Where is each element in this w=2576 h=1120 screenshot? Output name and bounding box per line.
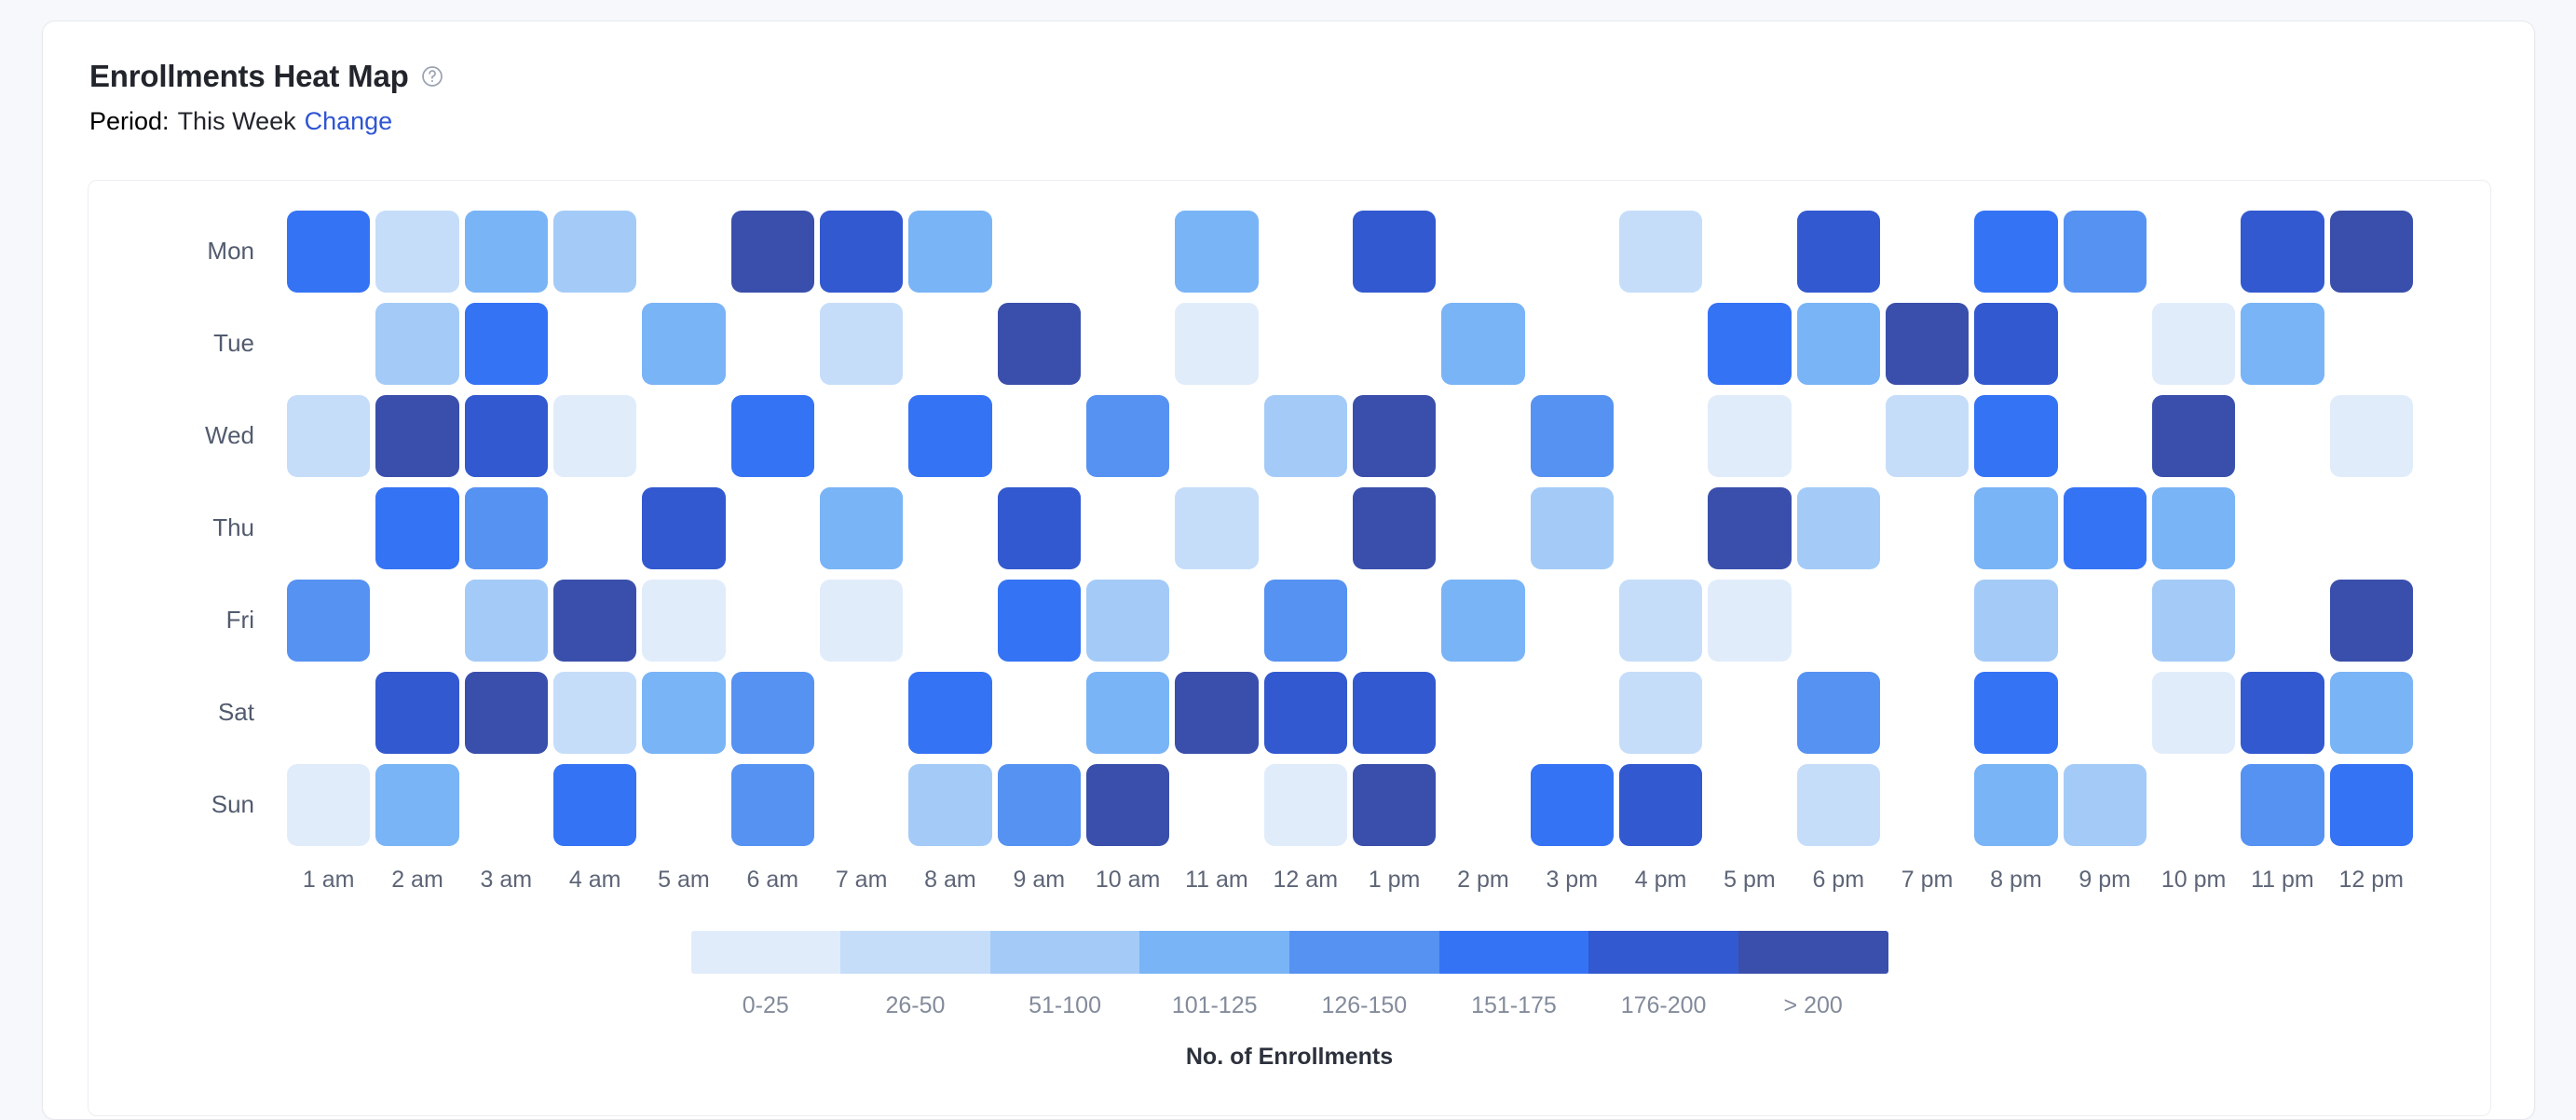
heatmap-cell[interactable]: [1708, 211, 1791, 293]
enrollments-heat-map-card: Enrollments Heat Map Period: This Week C…: [42, 20, 2535, 1120]
x-axis-tick-label: 6 pm: [1794, 867, 1883, 894]
heatmap-cell[interactable]: [1264, 395, 1347, 477]
heatmap-cell[interactable]: [1264, 580, 1347, 662]
heatmap-cell[interactable]: [1619, 211, 1702, 293]
heatmap-cell[interactable]: [2330, 580, 2413, 662]
heatmap-row-label: Sat: [89, 698, 284, 727]
heatmap-cell[interactable]: [1708, 672, 1791, 754]
legend-swatch: [1139, 931, 1289, 974]
heatmap-cell[interactable]: [1531, 211, 1614, 293]
heatmap-cell[interactable]: [2064, 487, 2147, 569]
heatmap-cell[interactable]: [908, 211, 991, 293]
heatmap-cell[interactable]: [1974, 211, 2057, 293]
heatmap-cell[interactable]: [553, 211, 636, 293]
heatmap-cell[interactable]: [553, 764, 636, 846]
heatmap-cell[interactable]: [1353, 211, 1436, 293]
heatmap-cell[interactable]: [1353, 672, 1436, 754]
period-label: Period:: [89, 106, 170, 136]
heatmap-cell[interactable]: [553, 487, 636, 569]
legend-label: 51-100: [990, 992, 1140, 1019]
heatmap-cell[interactable]: [2241, 580, 2324, 662]
legend-title: No. of Enrollments: [1186, 1044, 1393, 1071]
heatmap-cell[interactable]: [1708, 395, 1791, 477]
legend-label: 151-175: [1439, 992, 1589, 1019]
heatmap-cell[interactable]: [731, 303, 814, 385]
heatmap-cell[interactable]: [998, 303, 1081, 385]
heatmap-cell[interactable]: [1619, 303, 1702, 385]
heatmap-cell[interactable]: [1531, 487, 1614, 569]
x-axis-tick-label: 4 am: [551, 867, 639, 894]
heatmap-cell[interactable]: [2241, 672, 2324, 754]
legend-color-bar: [691, 931, 1888, 974]
heatmap-cell[interactable]: [820, 303, 903, 385]
heatmap-panel: MonTueWedThuFriSatSun1 am2 am3 am4 am5 a…: [88, 180, 2491, 1116]
heatmap-cell[interactable]: [1264, 303, 1347, 385]
heatmap-cell[interactable]: [2064, 764, 2147, 846]
heatmap-cell[interactable]: [1708, 764, 1791, 846]
heatmap-cell[interactable]: [820, 211, 903, 293]
heatmap-cell[interactable]: [1797, 303, 1880, 385]
heatmap-row: Tue: [89, 297, 2490, 389]
heatmap-cell[interactable]: [553, 303, 636, 385]
heatmap-cell[interactable]: [1175, 764, 1258, 846]
heatmap-cell[interactable]: [287, 303, 370, 385]
legend-label: 126-150: [1289, 992, 1439, 1019]
heatmap-cell[interactable]: [2330, 764, 2413, 846]
heatmap-cell[interactable]: [1974, 395, 2057, 477]
heatmap-cell[interactable]: [1175, 303, 1258, 385]
heatmap-cell[interactable]: [465, 672, 548, 754]
heatmap-cell[interactable]: [1974, 580, 2057, 662]
x-axis-tick-label: 6 am: [729, 867, 817, 894]
x-axis-tick-label: 8 am: [906, 867, 994, 894]
heatmap-cell[interactable]: [2064, 395, 2147, 477]
legend-swatch: [990, 931, 1140, 974]
heatmap-cell[interactable]: [731, 672, 814, 754]
heatmap-cell[interactable]: [2152, 580, 2235, 662]
heatmap-cell[interactable]: [465, 580, 548, 662]
heatmap-cell[interactable]: [1797, 211, 1880, 293]
change-period-link[interactable]: Change: [305, 106, 393, 136]
heatmap-cell[interactable]: [1086, 580, 1169, 662]
x-axis-tick-label: 5 am: [639, 867, 728, 894]
heatmap-cell[interactable]: [1708, 487, 1791, 569]
heatmap-cell[interactable]: [1708, 580, 1791, 662]
legend-label: 101-125: [1139, 992, 1289, 1019]
legend-swatch: [691, 931, 841, 974]
heatmap-cell[interactable]: [2152, 395, 2235, 477]
x-axis-tick-label: 3 pm: [1528, 867, 1616, 894]
heatmap-cell[interactable]: [908, 303, 991, 385]
heatmap-cell[interactable]: [642, 211, 725, 293]
x-axis-tick-label: 12 pm: [2327, 867, 2416, 894]
heatmap-cell[interactable]: [642, 764, 725, 846]
heatmap-cell[interactable]: [1531, 303, 1614, 385]
heatmap-cell[interactable]: [820, 580, 903, 662]
legend-swatch: [1588, 931, 1738, 974]
heatmap-cell[interactable]: [375, 764, 458, 846]
heatmap-row-label: Fri: [89, 606, 284, 635]
heatmap-cell[interactable]: [642, 487, 725, 569]
heatmap-cell[interactable]: [1974, 764, 2057, 846]
heatmap-cell[interactable]: [2152, 303, 2235, 385]
heatmap-cell[interactable]: [731, 487, 814, 569]
heatmap-cell[interactable]: [1441, 487, 1524, 569]
heatmap-cell[interactable]: [2064, 303, 2147, 385]
heatmap-cell[interactable]: [553, 580, 636, 662]
heatmap-cell[interactable]: [1797, 764, 1880, 846]
heatmap-cell[interactable]: [1264, 764, 1347, 846]
heatmap-cell[interactable]: [2152, 672, 2235, 754]
heatmap-cell[interactable]: [375, 211, 458, 293]
x-axis-tick-label: 10 pm: [2149, 867, 2238, 894]
heatmap-cell[interactable]: [820, 395, 903, 477]
heatmap-cell[interactable]: [1619, 764, 1702, 846]
heatmap-cell[interactable]: [1353, 303, 1436, 385]
heatmap-cell[interactable]: [908, 672, 991, 754]
heatmap-cell[interactable]: [1886, 395, 1969, 477]
heatmap-cell[interactable]: [731, 764, 814, 846]
heatmap-cell[interactable]: [1086, 487, 1169, 569]
legend-swatch: [1439, 931, 1589, 974]
card-header: Enrollments Heat Map Period: This Week C…: [43, 21, 2534, 136]
heatmap-cell[interactable]: [287, 672, 370, 754]
heatmap-cell[interactable]: [465, 211, 548, 293]
heatmap-cell[interactable]: [1886, 303, 1969, 385]
heatmap-cell[interactable]: [375, 580, 458, 662]
heatmap-cell[interactable]: [1175, 487, 1258, 569]
heatmap-cell[interactable]: [2330, 395, 2413, 477]
heatmap-cell[interactable]: [2152, 487, 2235, 569]
heatmap-cell[interactable]: [2152, 211, 2235, 293]
heatmap-cell[interactable]: [1886, 672, 1969, 754]
heatmap-row-label: Tue: [89, 329, 284, 358]
heatmap-cell[interactable]: [287, 211, 370, 293]
heatmap-cell[interactable]: [1086, 395, 1169, 477]
heatmap-cell[interactable]: [731, 211, 814, 293]
period-value: This Week: [178, 106, 296, 136]
heatmap-cell[interactable]: [908, 580, 991, 662]
heatmap-cell[interactable]: [2330, 487, 2413, 569]
period-row: Period: This Week Change: [89, 106, 2534, 136]
heatmap-cell[interactable]: [642, 395, 725, 477]
legend-label: > 200: [1738, 992, 1888, 1019]
heatmap-cell[interactable]: [1353, 764, 1436, 846]
heatmap-cell[interactable]: [1441, 395, 1524, 477]
x-axis-tick-label: 3 am: [462, 867, 551, 894]
heatmap-cell[interactable]: [1086, 672, 1169, 754]
heatmap-cell[interactable]: [465, 395, 548, 477]
heatmap-cell[interactable]: [465, 303, 548, 385]
heatmap-row: Fri: [89, 574, 2490, 666]
legend-label: 0-25: [691, 992, 841, 1019]
heatmap-row-label: Mon: [89, 237, 284, 266]
heatmap-cell[interactable]: [1974, 487, 2057, 569]
heatmap-cell[interactable]: [287, 487, 370, 569]
heatmap-cell[interactable]: [642, 580, 725, 662]
heatmap-cell[interactable]: [1797, 487, 1880, 569]
heatmap-cell[interactable]: [1264, 672, 1347, 754]
heatmap-cell[interactable]: [2241, 303, 2324, 385]
heatmap-cell[interactable]: [2241, 487, 2324, 569]
legend-swatch: [1289, 931, 1439, 974]
x-axis-tick-label: 12 am: [1261, 867, 1350, 894]
question-circle-icon[interactable]: [420, 64, 444, 89]
heatmap-cell[interactable]: [287, 395, 370, 477]
heatmap-cell[interactable]: [731, 580, 814, 662]
heatmap-cell[interactable]: [375, 487, 458, 569]
heatmap-cell[interactable]: [1974, 672, 2057, 754]
heatmap-cell[interactable]: [1619, 487, 1702, 569]
heatmap-cell[interactable]: [1264, 211, 1347, 293]
heatmap-cell[interactable]: [820, 487, 903, 569]
x-axis-tick-label: 1 pm: [1350, 867, 1438, 894]
heatmap-cell[interactable]: [998, 487, 1081, 569]
heatmap-row-cells: [284, 764, 2490, 846]
heatmap-cell[interactable]: [1619, 395, 1702, 477]
heatmap-cell[interactable]: [375, 303, 458, 385]
x-axis-tick-label: 11 pm: [2238, 867, 2326, 894]
heatmap-cell[interactable]: [1886, 211, 1969, 293]
heatmap-cell[interactable]: [820, 764, 903, 846]
heatmap-cell[interactable]: [1086, 211, 1169, 293]
heatmap-cell[interactable]: [287, 764, 370, 846]
x-axis-tick-label: 2 pm: [1438, 867, 1527, 894]
heatmap-cell[interactable]: [1353, 487, 1436, 569]
heatmap-cell[interactable]: [2330, 303, 2413, 385]
heatmap-x-axis: 1 am2 am3 am4 am5 am6 am7 am8 am9 am10 a…: [89, 856, 2490, 903]
heatmap-row-label: Thu: [89, 513, 284, 542]
x-axis-tick-label: 5 pm: [1705, 867, 1793, 894]
legend-swatch: [1738, 931, 1888, 974]
heatmap-cell[interactable]: [1441, 211, 1524, 293]
heatmap-cell[interactable]: [1086, 764, 1169, 846]
heatmap-cell[interactable]: [998, 764, 1081, 846]
heatmap-cell[interactable]: [553, 672, 636, 754]
legend-label: 176-200: [1588, 992, 1738, 1019]
heatmap-cell[interactable]: [375, 672, 458, 754]
heatmap-cell[interactable]: [1086, 303, 1169, 385]
heatmap-cell[interactable]: [2064, 672, 2147, 754]
heatmap-row-label: Sun: [89, 790, 284, 819]
heatmap-cell[interactable]: [1175, 395, 1258, 477]
heatmap-cell[interactable]: [1531, 764, 1614, 846]
heatmap-cell[interactable]: [1531, 580, 1614, 662]
heatmap-cell[interactable]: [1441, 580, 1524, 662]
heatmap-row-cells: [284, 303, 2490, 385]
heatmap-cell[interactable]: [1531, 672, 1614, 754]
heatmap-cell[interactable]: [2330, 211, 2413, 293]
heatmap-row-cells: [284, 580, 2490, 662]
x-axis-tick-label: 8 pm: [1971, 867, 2060, 894]
heatmap-cell[interactable]: [287, 580, 370, 662]
heatmap-cell[interactable]: [1175, 211, 1258, 293]
heatmap-row: Thu: [89, 482, 2490, 574]
x-axis-ticks: 1 am2 am3 am4 am5 am6 am7 am8 am9 am10 a…: [284, 867, 2490, 894]
x-axis-tick-label: 1 am: [284, 867, 373, 894]
heatmap-cell[interactable]: [908, 764, 991, 846]
heatmap-cell[interactable]: [1441, 303, 1524, 385]
heatmap-cell[interactable]: [1886, 487, 1969, 569]
heatmap-cell[interactable]: [1974, 303, 2057, 385]
heatmap-cell[interactable]: [2064, 211, 2147, 293]
heatmap-cell[interactable]: [998, 580, 1081, 662]
x-axis-tick-label: 2 am: [373, 867, 461, 894]
heatmap-cell[interactable]: [1175, 672, 1258, 754]
heatmap-cell[interactable]: [998, 395, 1081, 477]
heatmap-cell[interactable]: [465, 764, 548, 846]
heatmap-cell[interactable]: [1531, 395, 1614, 477]
heatmap-cell[interactable]: [642, 672, 725, 754]
heatmap-cell[interactable]: [1708, 303, 1791, 385]
heatmap-cell[interactable]: [2241, 764, 2324, 846]
heatmap-cell[interactable]: [1886, 764, 1969, 846]
heatmap-cell[interactable]: [1441, 764, 1524, 846]
heatmap-cell[interactable]: [1353, 395, 1436, 477]
heatmap-cell[interactable]: [998, 672, 1081, 754]
heatmap-cell[interactable]: [998, 211, 1081, 293]
heatmap-cell[interactable]: [1797, 580, 1880, 662]
x-axis-tick-label: 7 pm: [1883, 867, 1971, 894]
heatmap-cell[interactable]: [1886, 580, 1969, 662]
heatmap-cell[interactable]: [908, 395, 991, 477]
title-row: Enrollments Heat Map: [89, 61, 2534, 91]
heatmap-cell[interactable]: [1797, 672, 1880, 754]
heatmap-row: Sat: [89, 666, 2490, 758]
heatmap-cell[interactable]: [1353, 580, 1436, 662]
x-axis-tick-label: 10 am: [1084, 867, 1172, 894]
heatmap-cell[interactable]: [2241, 211, 2324, 293]
heatmap-legend: 0-2526-5051-100101-125126-150151-175176-…: [89, 931, 2490, 1071]
heatmap-cell[interactable]: [375, 395, 458, 477]
heatmap-row: Mon: [89, 205, 2490, 297]
page-title: Enrollments Heat Map: [89, 61, 409, 91]
heatmap-cell[interactable]: [2330, 672, 2413, 754]
heatmap-cell[interactable]: [553, 395, 636, 477]
legend-label: 26-50: [840, 992, 990, 1019]
heatmap-cell[interactable]: [1797, 395, 1880, 477]
heatmap-row-cells: [284, 487, 2490, 569]
legend-swatch: [840, 931, 990, 974]
heatmap-cell[interactable]: [642, 303, 725, 385]
x-axis-tick-label: 9 am: [995, 867, 1084, 894]
heatmap-row-cells: [284, 395, 2490, 477]
heatmap-cell[interactable]: [2152, 764, 2235, 846]
heatmap-cell[interactable]: [1264, 487, 1347, 569]
heatmap-row: Sun: [89, 758, 2490, 851]
heatmap-cell[interactable]: [1441, 672, 1524, 754]
heatmap-cell[interactable]: [820, 672, 903, 754]
heatmap-cell[interactable]: [1175, 580, 1258, 662]
heatmap-cell[interactable]: [908, 487, 991, 569]
heatmap-cell[interactable]: [731, 395, 814, 477]
heatmap-cell[interactable]: [1619, 580, 1702, 662]
heatmap-row-cells: [284, 672, 2490, 754]
heatmap-row: Wed: [89, 389, 2490, 482]
heatmap-cell[interactable]: [2241, 395, 2324, 477]
heatmap-cell[interactable]: [2064, 580, 2147, 662]
heatmap-row-cells: [284, 211, 2490, 293]
heatmap-grid: MonTueWedThuFriSatSun1 am2 am3 am4 am5 a…: [89, 205, 2490, 903]
x-axis-tick-label: 9 pm: [2061, 867, 2149, 894]
heatmap-row-label: Wed: [89, 421, 284, 450]
legend-labels: 0-2526-5051-100101-125126-150151-175176-…: [691, 992, 1888, 1019]
x-axis-tick-label: 11 am: [1172, 867, 1261, 894]
x-axis-tick-label: 4 pm: [1616, 867, 1705, 894]
heatmap-cell[interactable]: [1619, 672, 1702, 754]
x-axis-tick-label: 7 am: [817, 867, 906, 894]
heatmap-cell[interactable]: [465, 487, 548, 569]
